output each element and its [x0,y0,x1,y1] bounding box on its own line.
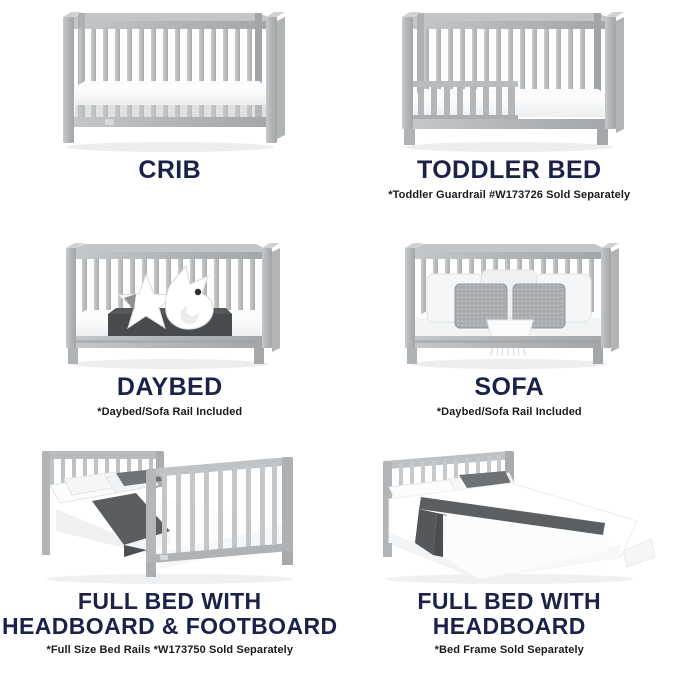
caption-crib: CRIB [0,157,340,184]
toddler-bed-post-left [402,17,413,129]
sofa-post-right [601,248,611,348]
option-title: FULL BED WITH HEADBOARD [340,589,679,639]
option-subtitle: *Full Size Bed Rails *W173750 Sold Separ… [0,644,340,656]
caption-daybed: DAYBED *Daybed/Sofa Rail Included [0,374,340,418]
brand-plate-icon [160,555,168,560]
crib-illustration [0,0,340,155]
crib-post-right [266,17,277,143]
toddler-bed-illustration [340,0,679,155]
full-bed-headboard-illustration [340,437,679,587]
option-title: FULL BED WITH HEADBOARD & FOOTBOARD [0,589,340,639]
crib-post-left [63,17,74,143]
crib-bottom-rail [65,117,277,127]
caption-sofa: SOFA *Daybed/Sofa Rail Included [340,374,679,418]
option-title: TODDLER BED [340,157,679,184]
caption-toddler-bed: TODDLER BED *Toddler Guardrail #W173726 … [340,157,679,201]
pillow-eye-icon [195,289,201,295]
option-cell-sofa: SOFA *Daybed/Sofa Rail Included [340,232,679,437]
sofa-svg [389,236,629,372]
full-bed-headboard-footboard-illustration [0,437,340,587]
option-cell-crib: CRIB [0,0,340,232]
option-title: CRIB [0,157,340,184]
option-subtitle: *Daybed/Sofa Rail Included [340,406,679,418]
option-subtitle: *Daybed/Sofa Rail Included [0,406,340,418]
options-grid: CRIB [0,0,679,679]
crib-mattress [75,87,267,105]
caption-full-bed-headboard: FULL BED WITH HEADBOARD *Bed Frame Sold … [340,589,679,656]
toddler-bed-post-right [605,17,616,129]
option-subtitle: *Toddler Guardrail #W173726 Sold Separat… [340,189,679,201]
option-title: SOFA [340,374,679,401]
daybed-post-right [262,248,272,348]
conversion-options-chart: CRIB [0,0,679,679]
option-cell-toddler-bed: TODDLER BED *Toddler Guardrail #W173726 … [340,0,679,232]
full-bed-hf-svg [20,439,320,587]
brand-plate-icon [105,119,114,125]
daybed-illustration [0,232,340,372]
option-title: DAYBED [0,374,340,401]
option-cell-full-bed-headboard: FULL BED WITH HEADBOARD *Bed Frame Sold … [340,437,679,679]
sofa-post-left [405,248,415,348]
daybed-post-left [66,248,76,348]
sofa-illustration [340,232,679,372]
toddler-bed-bottom-rail [404,119,616,129]
option-subtitle: *Bed Frame Sold Separately [340,644,679,656]
full-bed-h-svg [359,439,659,587]
crib-svg [45,5,295,155]
daybed-svg [50,236,290,372]
sofa-white-pillows [427,270,591,322]
option-cell-daybed: DAYBED *Daybed/Sofa Rail Included [0,232,340,437]
toddler-bed-svg [384,5,634,155]
caption-full-bed-headboard-footboard: FULL BED WITH HEADBOARD & FOOTBOARD *Ful… [0,589,340,656]
option-cell-full-bed-headboard-footboard: FULL BED WITH HEADBOARD & FOOTBOARD *Ful… [0,437,340,679]
